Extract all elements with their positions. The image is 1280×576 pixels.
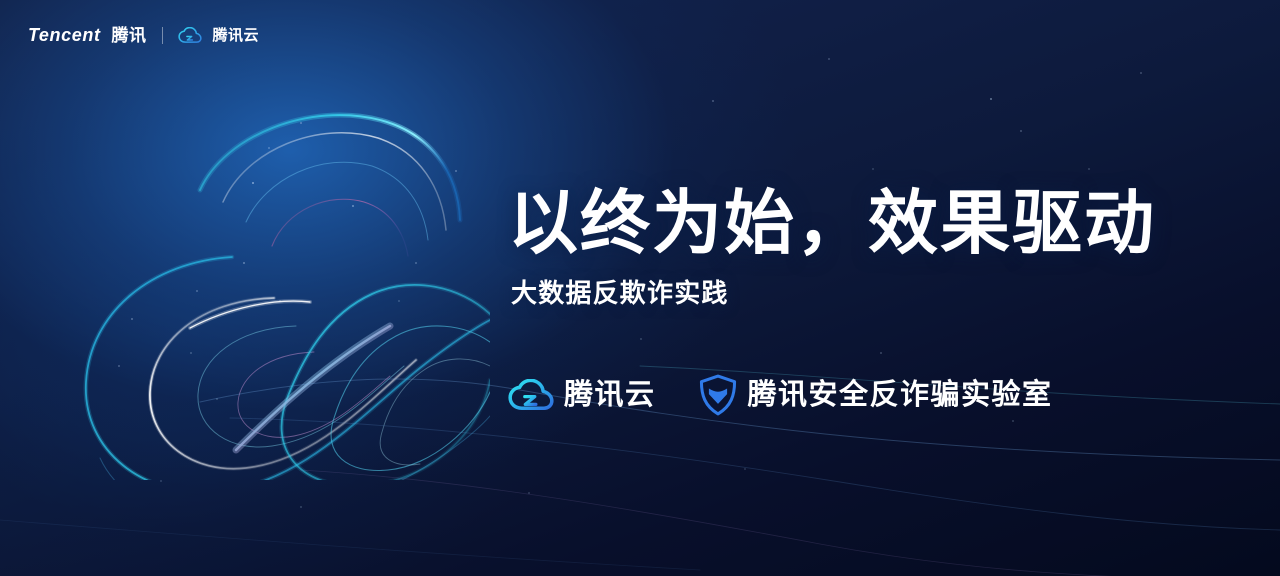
logo-divider (162, 27, 163, 44)
page-subtitle: 大数据反欺诈实践 (511, 278, 729, 309)
tencent-cloud-cn-label: 腾讯云 (213, 28, 260, 43)
tencent-cloud-icon (508, 379, 554, 412)
title-slide: Tencent 腾讯 腾讯云 以终为始，效果驱动 大数据反欺诈实践 (0, 0, 1280, 576)
brand-label: 腾讯云 (564, 381, 656, 410)
tencent-wordmark: Tencent (28, 26, 101, 44)
background-arc-lines (0, 330, 1280, 576)
brand-tencent-cloud: 腾讯云 (508, 379, 656, 412)
brand-label: 腾讯安全反诈骗实验室 (748, 381, 1053, 410)
tencent-cn-wordmark: 腾讯 (112, 27, 147, 44)
brand-header: Tencent 腾讯 腾讯云 (28, 22, 259, 48)
tencent-security-shield-icon (698, 374, 738, 416)
brand-footer: 腾讯云 腾讯安全反诈骗实验室 (508, 372, 1053, 418)
page-title: 以终为始，效果驱动 (508, 186, 1156, 260)
brand-tencent-security-lab: 腾讯安全反诈骗实验室 (698, 374, 1053, 416)
cloud-outline-graphic (60, 80, 490, 480)
tencent-cloud-icon (178, 27, 202, 44)
